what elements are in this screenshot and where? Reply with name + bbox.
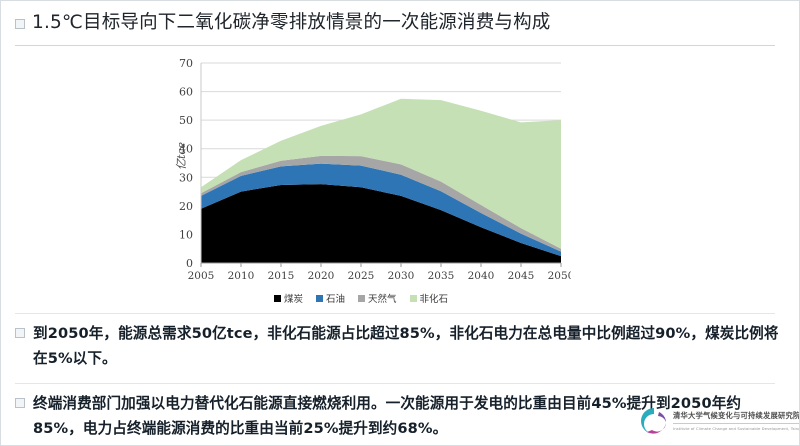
y-axis-label: 亿tce [173,142,189,170]
legend-label: 石油 [326,291,345,305]
y-axis-label-wrap: 亿tce [167,145,183,164]
y-tick-label: 60 [179,86,193,99]
institute-logo: 清华大学气候变化与可持续发展研究院 Institute of Climate C… [639,401,791,441]
x-tick-label: 2030 [388,270,415,282]
x-tick-label: 2015 [268,270,295,282]
x-tick-label: 2045 [508,270,535,282]
legend-item[interactable]: 非化石 [410,291,449,305]
square-bullet-icon [15,19,25,29]
section-divider-2 [15,383,775,384]
legend-label: 天然气 [368,291,397,305]
square-bullet-icon [15,328,25,338]
legend-swatch-icon [410,295,417,302]
square-bullet-icon [15,398,25,408]
legend-item[interactable]: 煤炭 [274,291,303,305]
y-tick-label: 10 [179,228,193,241]
y-tick-label: 70 [179,57,193,70]
x-tick-label: 2050 [548,270,571,282]
y-tick-label: 0 [186,257,193,270]
x-tick-label: 2020 [308,270,335,282]
logo-swoosh-icon [639,406,669,436]
logo-name-en: Institute of Climate Change and Sustaina… [673,423,800,431]
x-tick-label: 2035 [428,270,455,282]
x-tick-label: 2040 [468,270,495,282]
chart-legend: 煤炭石油天然气非化石 [151,291,571,305]
legend-label: 非化石 [420,291,449,305]
page-title: 1.5℃目标导向下二氧化碳净零排放情景的一次能源消费与构成 [32,11,551,34]
logo-name-cn: 清华大学气候变化与可持续发展研究院 [673,411,800,421]
x-tick-label: 2025 [348,270,375,282]
bullet-item-1: 到2050年，能源总需求50亿tce，非化石能源占比超过85%，非化石电力在总电… [15,321,787,371]
y-tick-label: 20 [179,200,193,213]
primary-energy-area-chart: 亿tce 01020304050607020052010201520202025… [151,53,571,315]
y-tick-label: 50 [179,114,193,127]
legend-item[interactable]: 天然气 [358,291,397,305]
title-divider [15,45,775,46]
chart-plot-svg: 0102030405060702005201020152020202520302… [151,53,571,293]
slide-title-row: 1.5℃目标导向下二氧化碳净零排放情景的一次能源消费与构成 [15,11,779,34]
section-divider-1 [15,313,775,314]
legend-swatch-icon [358,295,365,302]
legend-label: 煤炭 [284,291,303,305]
legend-swatch-icon [316,295,323,302]
x-tick-label: 2010 [228,270,255,282]
x-tick-label: 2005 [188,270,215,282]
legend-item[interactable]: 石油 [316,291,345,305]
bullet-text-1: 到2050年，能源总需求50亿tce，非化石能源占比超过85%，非化石电力在总电… [33,321,787,371]
legend-swatch-icon [274,295,281,302]
y-tick-label: 30 [179,171,193,184]
logo-text-block: 清华大学气候变化与可持续发展研究院 Institute of Climate C… [673,411,800,431]
slide-canvas: 1.5℃目标导向下二氧化碳净零排放情景的一次能源消费与构成 亿tce 01020… [0,0,800,446]
